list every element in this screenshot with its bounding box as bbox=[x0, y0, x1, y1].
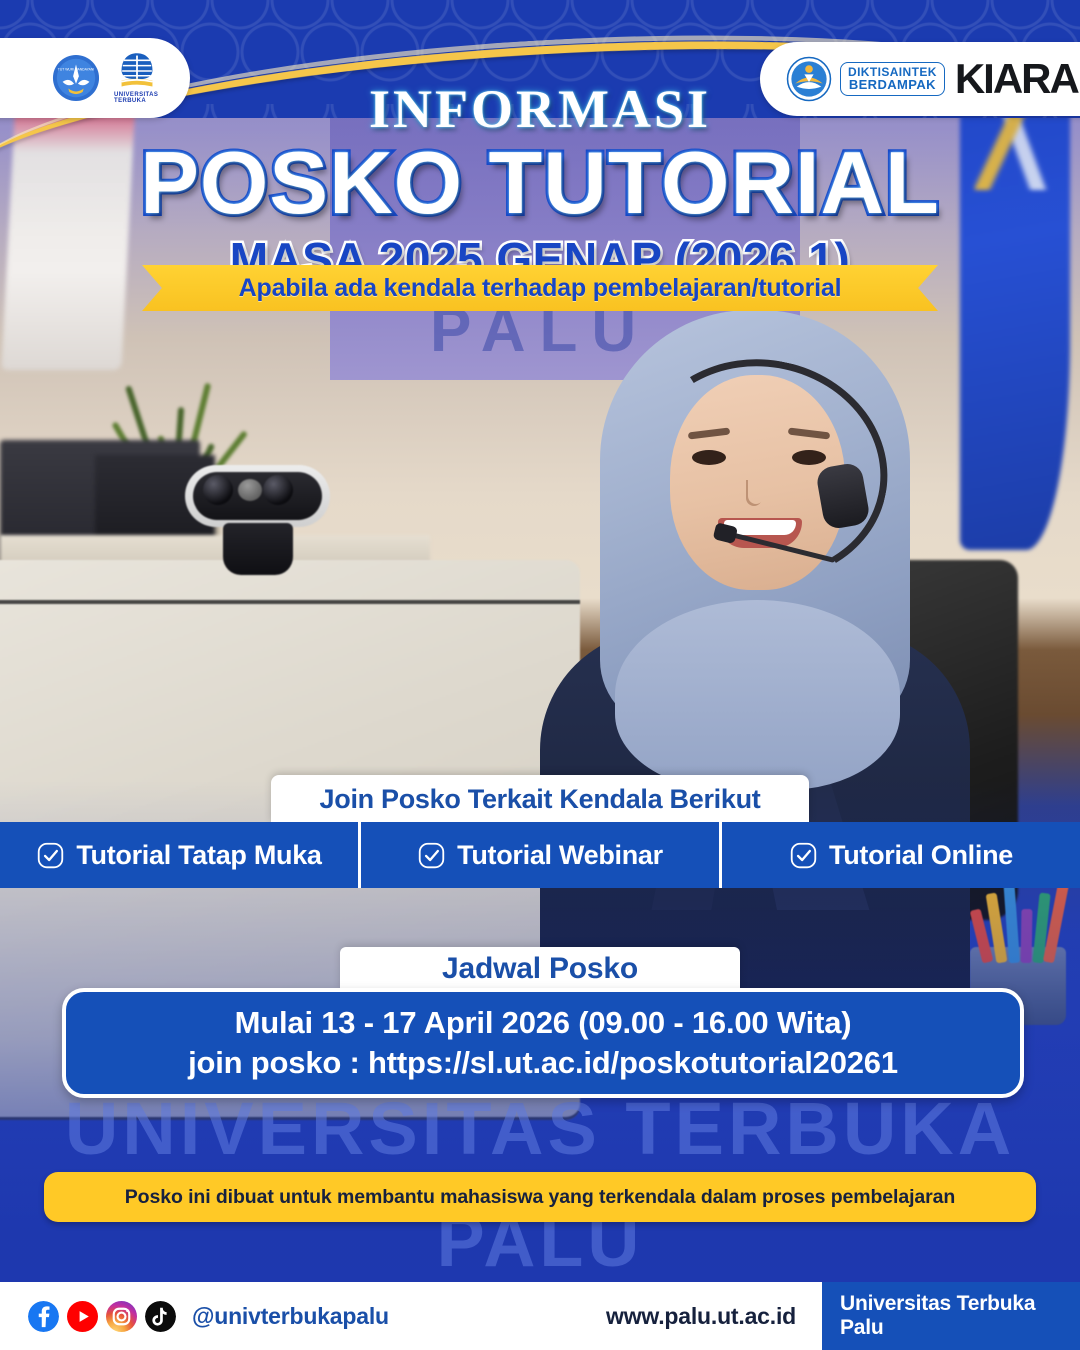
check-badge-icon bbox=[36, 841, 65, 870]
tutorial-type-tabbar: Tutorial Tatap Muka Tutorial Webinar Tut… bbox=[0, 822, 1080, 888]
headline-block: INFORMASI POSKO TUTORIAL MASA 2025 GENAP… bbox=[0, 78, 1080, 286]
svg-text:TUT WURI HANDAYANI: TUT WURI HANDAYANI bbox=[58, 67, 94, 71]
social-handle[interactable]: @univterbukapalu bbox=[192, 1303, 389, 1330]
instagram-icon[interactable] bbox=[106, 1301, 137, 1332]
tab-label: Tutorial Webinar bbox=[457, 840, 663, 871]
check-badge-icon bbox=[417, 841, 446, 870]
website-url[interactable]: www.palu.ut.ac.id bbox=[606, 1303, 796, 1330]
poster-root: PALU bbox=[0, 0, 1080, 1350]
info-note-text: Posko ini dibuat untuk membantu mahasisw… bbox=[125, 1186, 955, 1209]
social-links bbox=[28, 1301, 176, 1332]
schedule-dates: Mulai 13 - 17 April 2026 (09.00 - 16.00 … bbox=[235, 1005, 852, 1041]
tab-tutorial-webinar[interactable]: Tutorial Webinar bbox=[358, 822, 719, 888]
youtube-icon[interactable] bbox=[67, 1301, 98, 1332]
check-badge-icon bbox=[789, 841, 818, 870]
tab-tutorial-online[interactable]: Tutorial Online bbox=[719, 822, 1080, 888]
schedule-details-box: Mulai 13 - 17 April 2026 (09.00 - 16.00 … bbox=[62, 988, 1024, 1098]
schedule-join-link[interactable]: join posko : https://sl.ut.ac.id/poskotu… bbox=[188, 1045, 898, 1081]
ribbon-text: Apabila ada kendala terhadap pembelajara… bbox=[239, 274, 842, 303]
join-posko-heading-text: Join Posko Terkait Kendala Berikut bbox=[320, 784, 761, 815]
page-title: POSKO TUTORIAL bbox=[0, 138, 1080, 228]
headline-eyebrow: INFORMASI bbox=[0, 78, 1080, 140]
tab-label: Tutorial Online bbox=[829, 840, 1013, 871]
join-posko-heading: Join Posko Terkait Kendala Berikut bbox=[271, 775, 809, 823]
tab-tutorial-tatap-muka[interactable]: Tutorial Tatap Muka bbox=[0, 822, 358, 888]
facebook-icon[interactable] bbox=[28, 1301, 59, 1332]
organization-line2: Palu bbox=[840, 1316, 1080, 1340]
organization-line1: Universitas Terbuka bbox=[840, 1292, 1080, 1316]
footer-bar: @univterbukapalu www.palu.ut.ac.id Unive… bbox=[0, 1282, 1080, 1350]
organization-name: Universitas Terbuka Palu bbox=[822, 1282, 1080, 1350]
jadwal-posko-heading-text: Jadwal Posko bbox=[442, 952, 638, 986]
info-note-banner: Posko ini dibuat untuk membantu mahasisw… bbox=[44, 1172, 1036, 1222]
jadwal-posko-heading: Jadwal Posko bbox=[340, 947, 740, 991]
tab-label: Tutorial Tatap Muka bbox=[76, 840, 321, 871]
tiktok-icon[interactable] bbox=[145, 1301, 176, 1332]
headline-ribbon-banner: Apabila ada kendala terhadap pembelajara… bbox=[142, 265, 938, 311]
